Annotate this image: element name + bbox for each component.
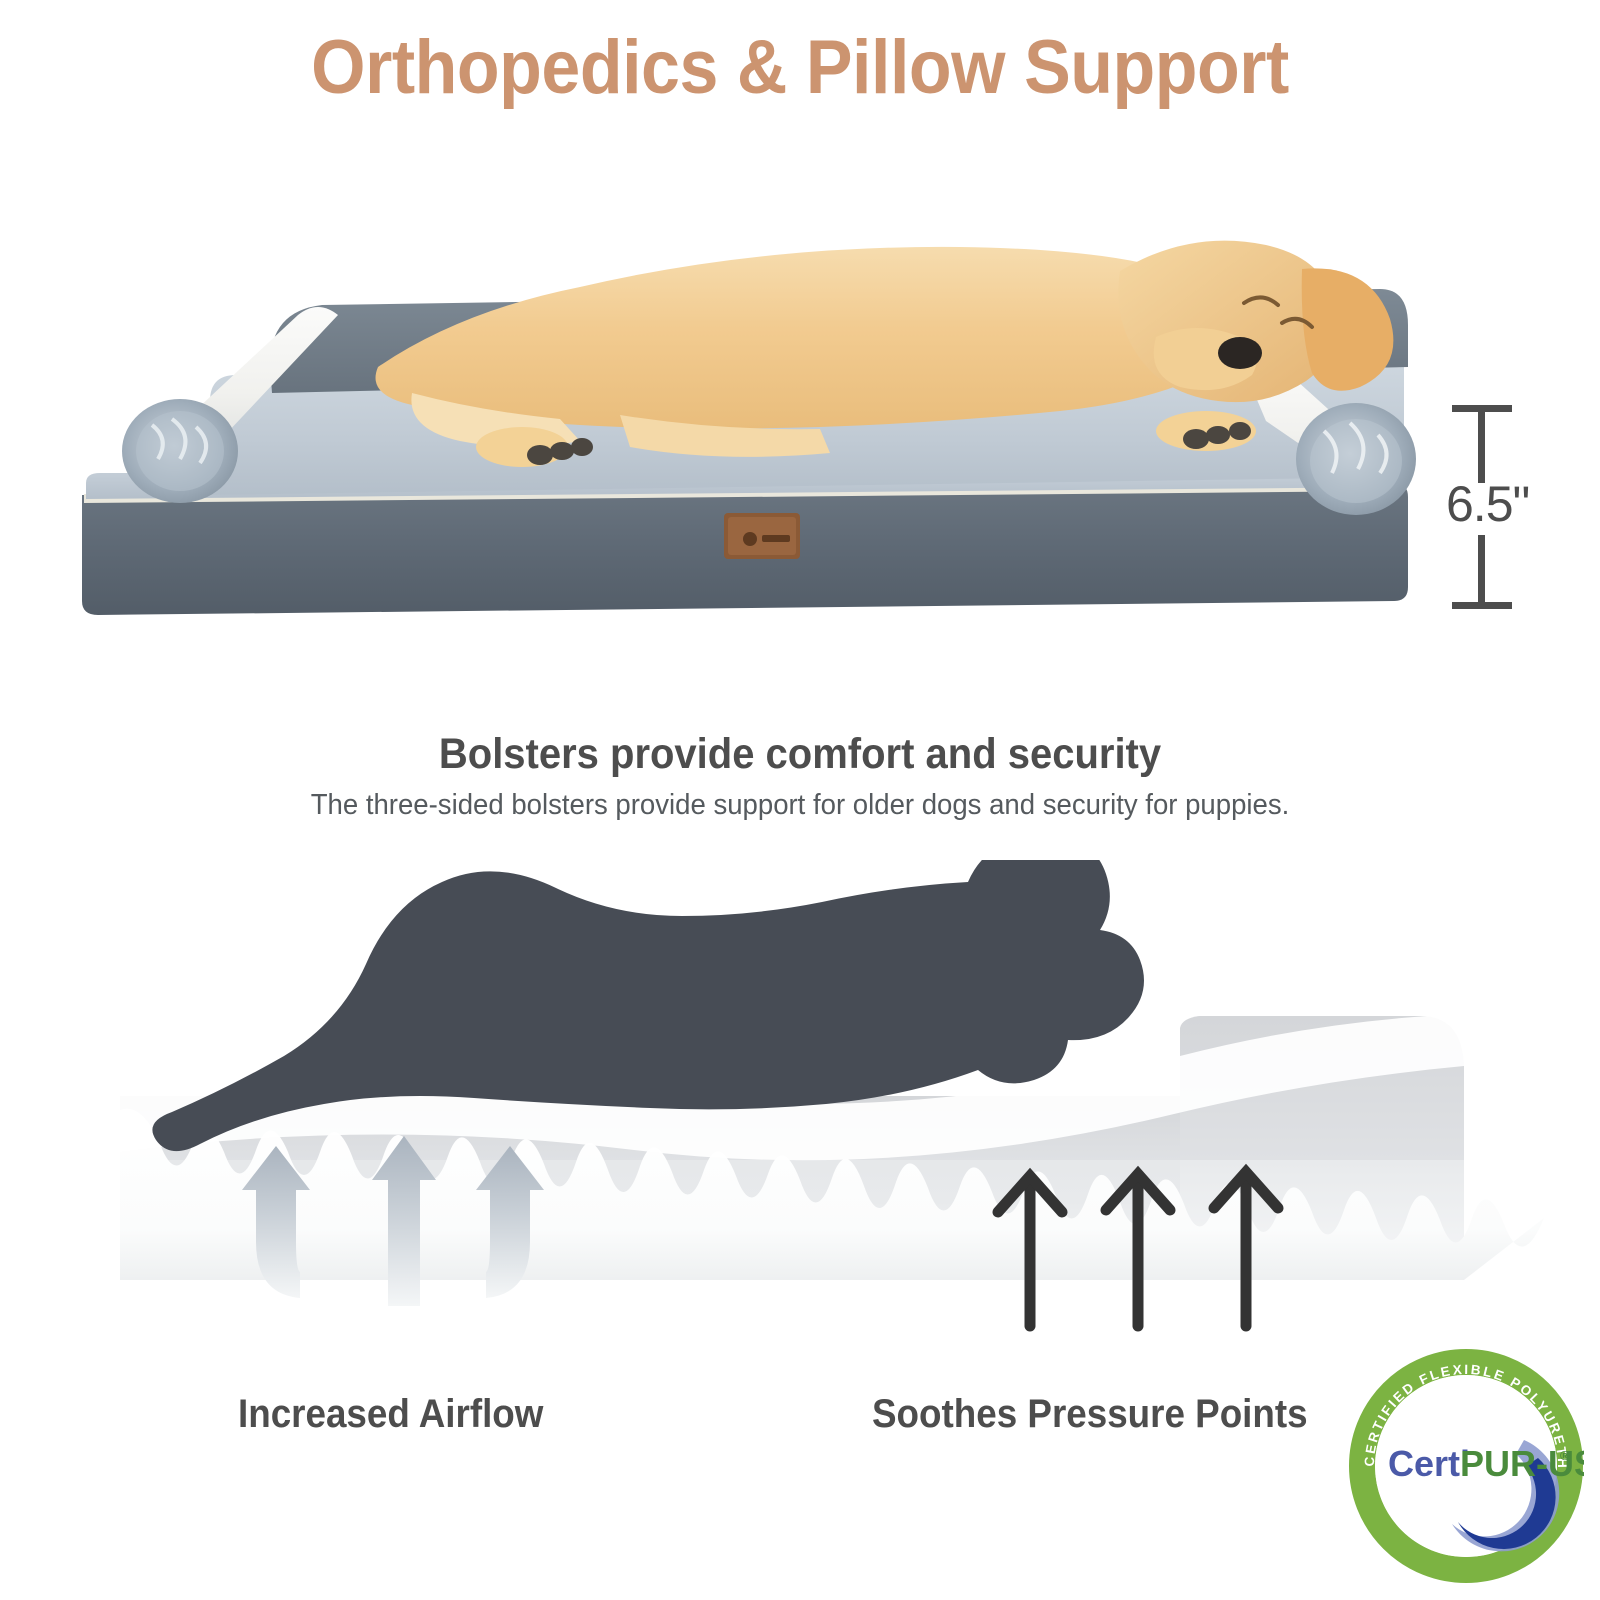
feature-label-increased-airflow: Increased Airflow [238, 1392, 543, 1437]
airflow-arrow-group [242, 1136, 544, 1306]
certipur-logo-part1: Certi [1388, 1443, 1470, 1484]
certipur-registered-mark: ® [1560, 1448, 1570, 1463]
hero-product-photo [60, 215, 1420, 635]
feature-label-soothes-pressure-points: Soothes Pressure Points [872, 1392, 1308, 1437]
page-title: Orthopedics & Pillow Support [64, 24, 1536, 111]
dimension-line-top [1478, 409, 1485, 483]
bolster-subtext: The three-sided bolsters provide support… [40, 789, 1560, 822]
certipur-us-badge: CONTAINS CERTIFIED FLEXIBLE POLYURETHANE… [1348, 1348, 1584, 1584]
egg-crate-foam-diagram [0, 860, 1600, 1380]
dimension-value: 6.5" [1446, 475, 1529, 533]
bed-height-dimension: 6.5" [1440, 395, 1590, 615]
dimension-line-bottom [1478, 535, 1485, 609]
brand-tag [724, 513, 800, 559]
dimension-cap-bottom [1452, 602, 1512, 609]
bolster-heading: Bolsters provide comfort and security [56, 730, 1544, 779]
